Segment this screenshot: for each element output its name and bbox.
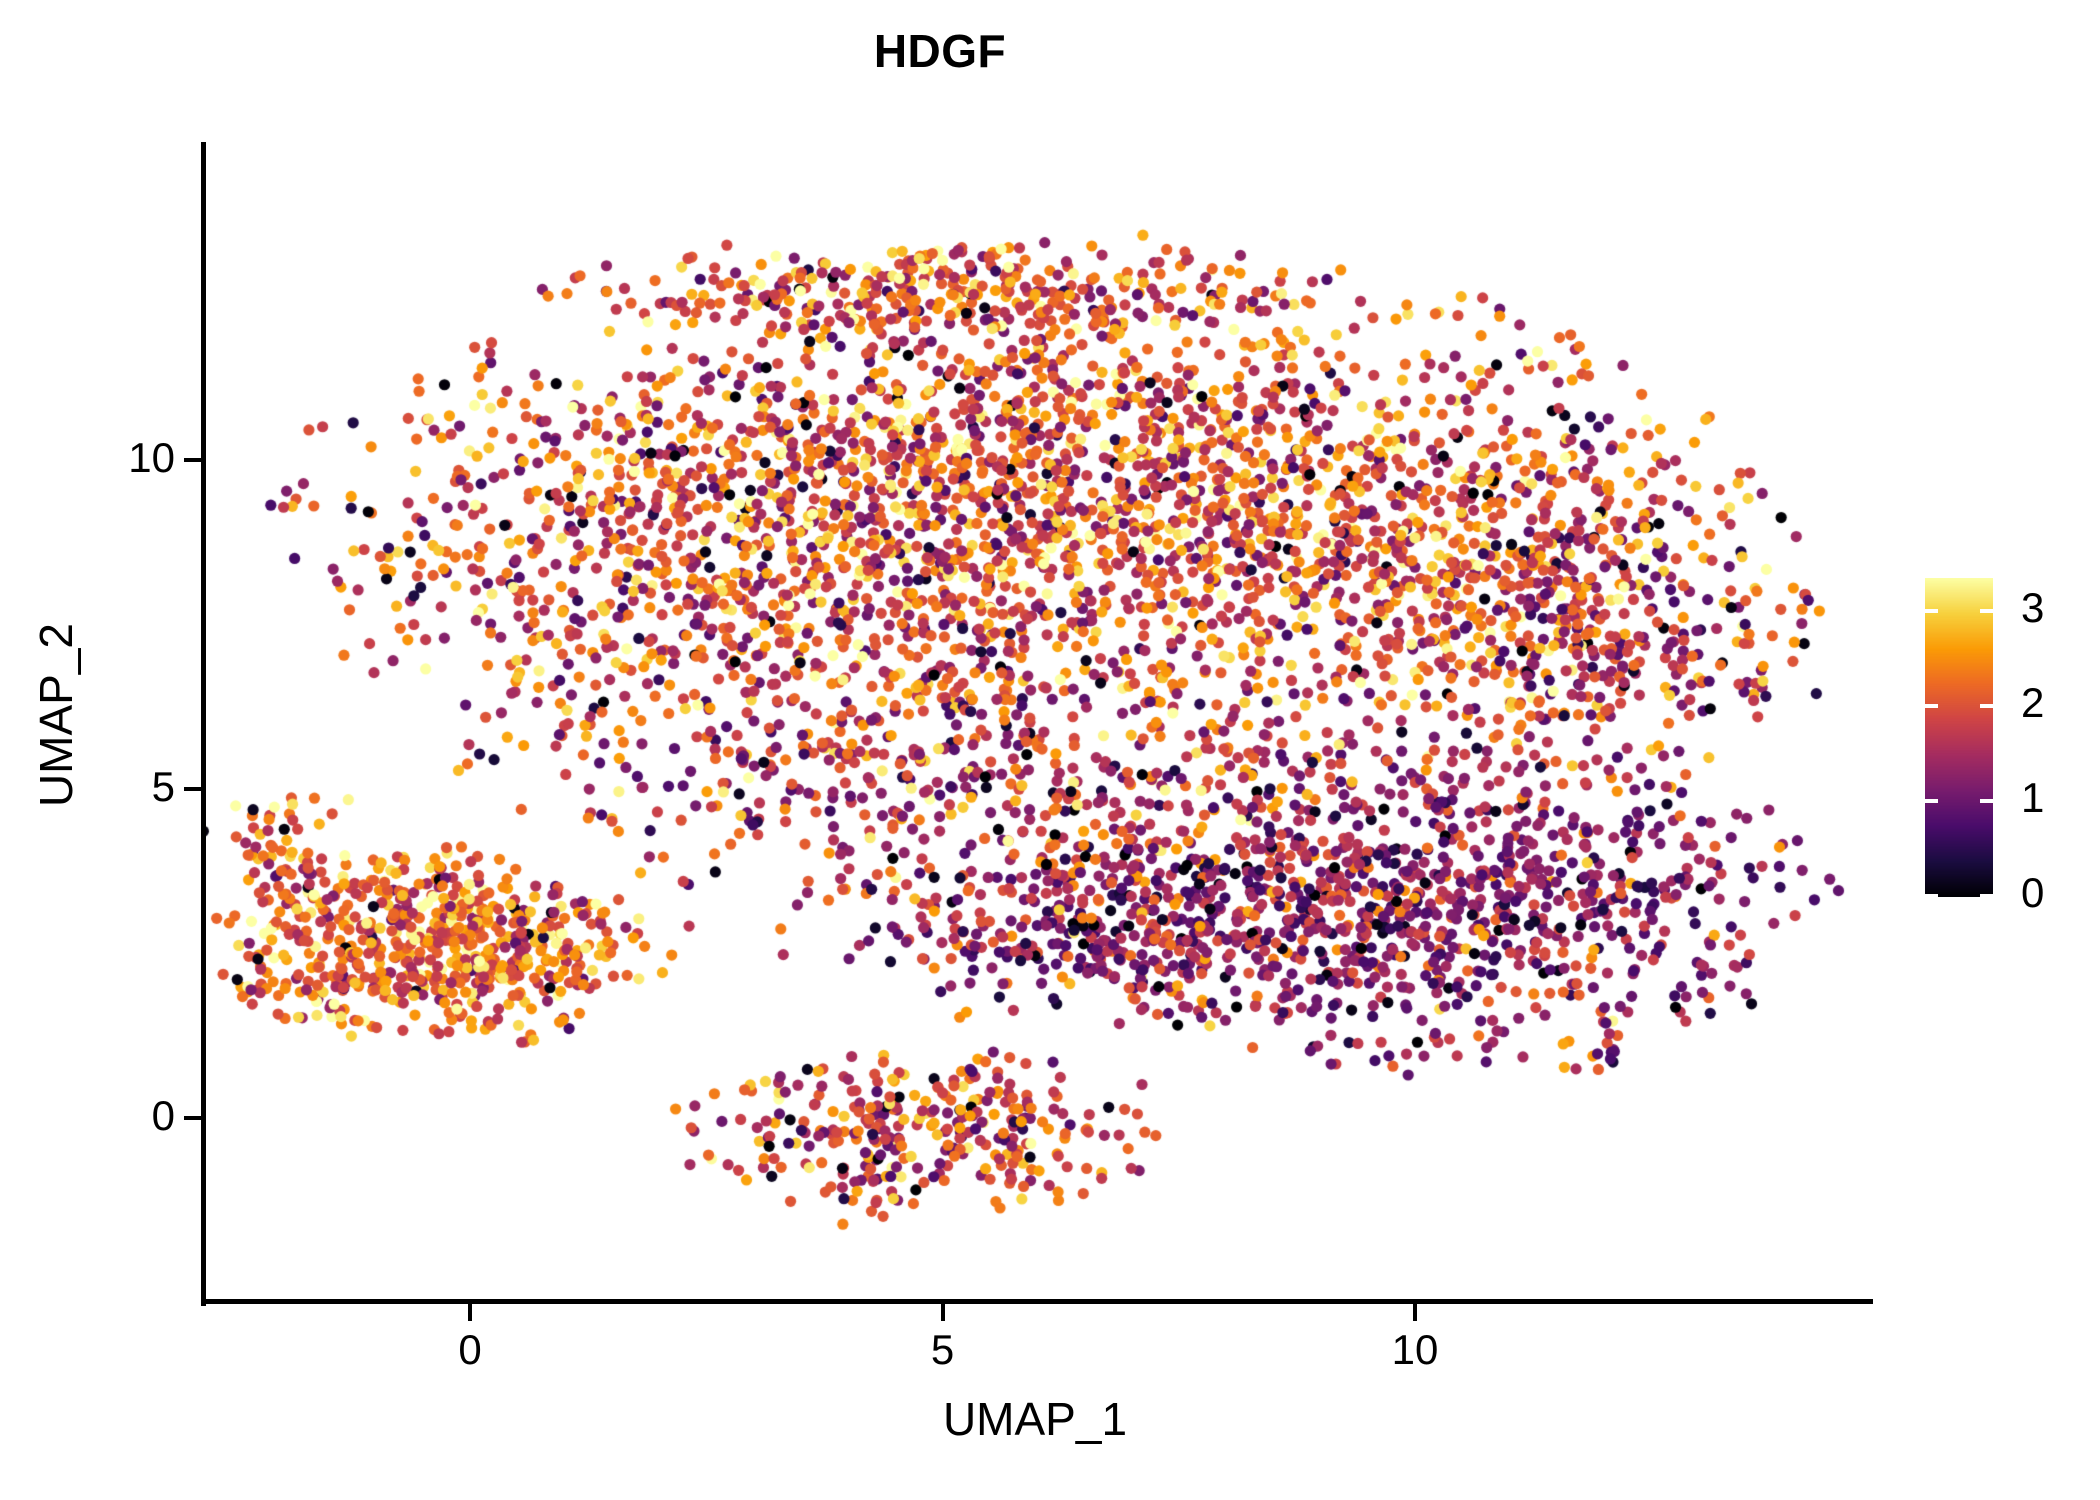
x-tick-label: 5 — [873, 1326, 1013, 1374]
y-axis-line — [201, 142, 206, 1306]
colorbar-tick-mark — [1980, 799, 1993, 803]
y-tick-label: 0 — [152, 1092, 175, 1140]
colorbar-tick-mark — [1925, 799, 1938, 803]
scatter-plot-panel — [205, 142, 1873, 1303]
y-tick-mark — [184, 787, 201, 791]
page-title: HDGF — [0, 24, 1880, 78]
colorbar-tick-mark — [1925, 704, 1938, 708]
colorbar-tick-label: 0 — [2021, 869, 2044, 917]
colorbar-tick-label: 3 — [2021, 584, 2044, 632]
colorbar-tick-mark — [1980, 894, 1993, 898]
x-tick-label: 10 — [1345, 1326, 1485, 1374]
y-tick-mark — [184, 1116, 201, 1120]
colorbar-tick-mark — [1925, 609, 1938, 613]
scatter-points-layer — [205, 142, 1873, 1303]
x-tick-mark — [468, 1304, 472, 1321]
colorbar-tick-mark — [1980, 609, 1993, 613]
x-tick-mark — [941, 1304, 945, 1321]
colorbar-tick-mark — [1980, 704, 1993, 708]
colorbar-gradient — [1925, 578, 1993, 897]
x-tick-label: 0 — [400, 1326, 540, 1374]
y-tick-label: 10 — [128, 434, 175, 482]
y-tick-label: 5 — [152, 763, 175, 811]
x-tick-mark — [1413, 1304, 1417, 1321]
colorbar-tick-label: 1 — [2021, 774, 2044, 822]
x-axis-label: UMAP_1 — [835, 1392, 1235, 1446]
colorbar-tick-label: 2 — [2021, 679, 2044, 727]
x-axis-line — [201, 1299, 1873, 1304]
figure-root: HDGF 0510 0510 UMAP_1 UMAP_2 3210 — [0, 0, 2100, 1500]
colorbar-tick-mark — [1925, 894, 1938, 898]
y-axis-label: UMAP_2 — [29, 490, 83, 940]
y-tick-mark — [184, 458, 201, 462]
